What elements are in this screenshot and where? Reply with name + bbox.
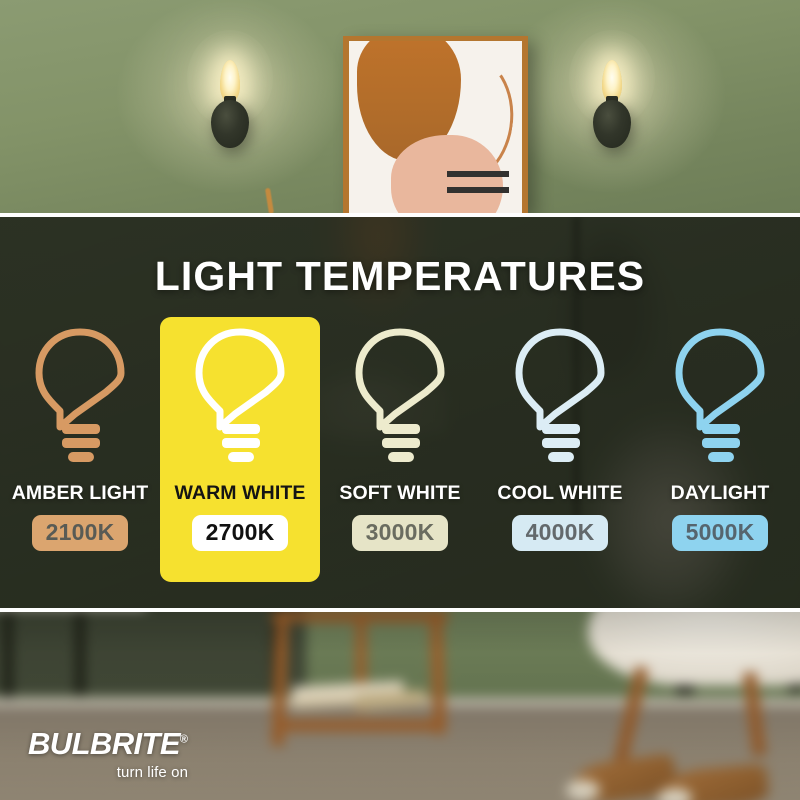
artwork-bar-lower (447, 187, 509, 193)
lightbulb-outline-icon (188, 323, 292, 469)
framed-artwork (343, 36, 528, 213)
temperature-card-soft-white[interactable]: SOFT WHITE 3000K (320, 317, 480, 582)
infographic-page: LIGHT TEMPERATURES AMBER LIGHT 2100K (0, 0, 800, 800)
brand-wordmark-text: BULBRITE (28, 726, 180, 761)
registered-trademark-icon: ® (180, 734, 188, 746)
kelvin-badge: 4000K (512, 515, 609, 551)
temperature-card-list: AMBER LIGHT 2100K WARM WHITE 2700K (0, 317, 800, 582)
wall-sconce-right (585, 38, 639, 148)
lightbulb-outline-icon (348, 323, 452, 469)
temperature-label: COOL WHITE (497, 482, 622, 505)
sconce-cup-left (211, 100, 249, 148)
kelvin-badge: 5000K (672, 515, 769, 551)
page-title: LIGHT TEMPERATURES (0, 253, 800, 300)
temperature-label: SOFT WHITE (339, 482, 460, 505)
temperature-card-cool-white[interactable]: COOL WHITE 4000K (480, 317, 640, 582)
kelvin-badge: 2100K (32, 515, 129, 551)
kelvin-badge: 3000K (352, 515, 449, 551)
top-room-photo (0, 0, 800, 213)
temperature-card-daylight[interactable]: DAYLIGHT 5000K (640, 317, 800, 582)
infographic-content: LIGHT TEMPERATURES AMBER LIGHT 2100K (0, 217, 800, 608)
artwork-bar-upper (447, 171, 509, 177)
brand-wordmark: BULBRITE® (28, 728, 188, 759)
temperature-label: AMBER LIGHT (12, 482, 149, 505)
temperature-card-amber-light[interactable]: AMBER LIGHT 2100K (0, 317, 160, 582)
divider-top (0, 213, 800, 217)
divider-bottom (0, 608, 800, 612)
lightbulb-outline-icon (28, 323, 132, 469)
artwork-canvas (349, 41, 522, 213)
temperature-label: DAYLIGHT (671, 482, 770, 505)
lightbulb-outline-icon (668, 323, 772, 469)
sconce-cup-right (593, 100, 631, 148)
lightbulb-outline-icon (508, 323, 612, 469)
brand-tagline: turn life on (28, 764, 188, 781)
temperature-card-warm-white[interactable]: WARM WHITE 2700K (160, 317, 320, 582)
temperature-label: WARM WHITE (175, 482, 306, 505)
kelvin-badge: 2700K (192, 515, 289, 551)
wall-sconce-left (203, 38, 257, 148)
brand-logo: BULBRITE® turn life on (28, 728, 188, 781)
